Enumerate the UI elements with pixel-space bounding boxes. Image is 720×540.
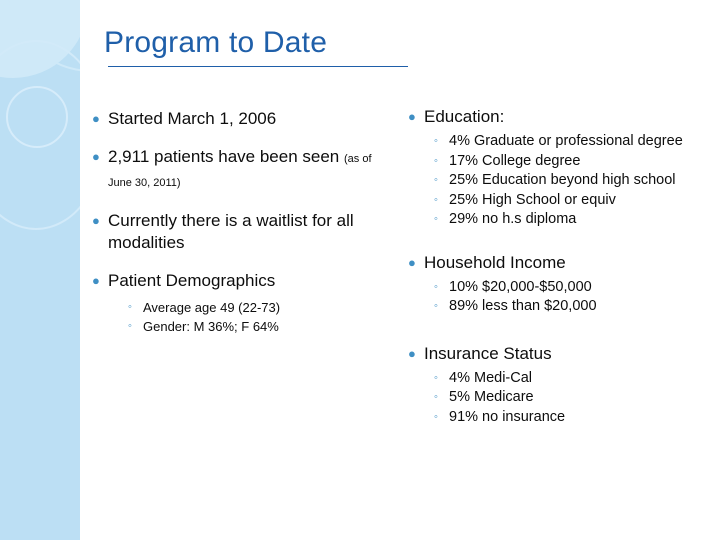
sub-list-item: ◦ 91% no insurance xyxy=(434,408,720,428)
left-content-column: ● Started March 1, 2006 ● 2,911 patients… xyxy=(92,108,392,336)
sub-bullet-icon: ◦ xyxy=(128,298,143,317)
sub-list-item: ◦ 4% Graduate or professional degree xyxy=(434,132,720,152)
sub-bullet-icon: ◦ xyxy=(434,278,449,297)
sub-bullet-icon: ◦ xyxy=(434,132,449,151)
right-content-column: ● Education: ◦ 4% Graduate or profession… xyxy=(408,106,720,441)
list-item: ● Education: xyxy=(408,106,720,128)
sub-list-item: ◦ 25% Education beyond high school xyxy=(434,171,720,191)
decorative-left-band xyxy=(0,0,80,540)
sub-list-item-label: 29% no h.s diploma xyxy=(449,210,720,230)
bullet-icon: ● xyxy=(408,343,424,365)
sub-bullet-icon: ◦ xyxy=(434,297,449,316)
list-item: ● Currently there is a waitlist for all … xyxy=(92,210,392,254)
list-item-label: Insurance Status xyxy=(424,343,720,365)
sub-bullet-icon: ◦ xyxy=(434,388,449,407)
sub-list-item-label: 4% Medi-Cal xyxy=(449,369,720,389)
sub-bullet-icon: ◦ xyxy=(434,152,449,171)
bullet-icon: ● xyxy=(92,108,108,130)
list-item-label: Currently there is a waitlist for all mo… xyxy=(108,210,392,254)
list-item: ● Household Income xyxy=(408,252,720,274)
sub-list-item-label: 25% High School or equiv xyxy=(449,191,720,211)
list-item: ● Insurance Status xyxy=(408,343,720,365)
list-item: ● 2,911 patients have been seen (as of J… xyxy=(92,146,392,194)
list-item-label: 2,911 patients have been seen (as of Jun… xyxy=(108,146,392,194)
sub-list-item: ◦ Gender: M 36%; F 64% xyxy=(128,317,392,336)
sub-list-item: ◦ 17% College degree xyxy=(434,152,720,172)
sub-bullet-icon: ◦ xyxy=(434,210,449,229)
bullet-icon: ● xyxy=(92,146,108,168)
sub-list-item: ◦ 25% High School or equiv xyxy=(434,191,720,211)
page-title: Program to Date xyxy=(104,26,327,60)
sub-bullet-icon: ◦ xyxy=(434,369,449,388)
insurance-status-group: ● Insurance Status ◦ 4% Medi-Cal ◦ 5% Me… xyxy=(408,343,720,428)
list-item-label: Patient Demographics xyxy=(108,270,392,292)
sub-bullet-icon: ◦ xyxy=(128,317,143,336)
list-item-label: Education: xyxy=(424,106,720,128)
bullet-icon: ● xyxy=(92,210,108,232)
sub-list-item: ◦ 4% Medi-Cal xyxy=(434,369,720,389)
list-item-text: 2,911 patients have been seen xyxy=(108,147,339,166)
sub-list-item-label: 4% Graduate or professional degree xyxy=(449,132,720,152)
sub-list-item-label: Average age 49 (22-73) xyxy=(143,298,392,317)
title-underline xyxy=(108,66,408,67)
sub-list-item: ◦ Average age 49 (22-73) xyxy=(128,298,392,317)
list-item-label: Household Income xyxy=(424,252,720,274)
bullet-icon: ● xyxy=(92,270,108,292)
household-income-group: ● Household Income ◦ 10% $20,000-$50,000… xyxy=(408,252,720,317)
sub-bullet-icon: ◦ xyxy=(434,171,449,190)
bullet-icon: ● xyxy=(408,106,424,128)
sub-list-item: ◦ 5% Medicare xyxy=(434,388,720,408)
list-item: ● Patient Demographics xyxy=(92,270,392,292)
sub-list-item-label: 17% College degree xyxy=(449,152,720,172)
sub-list-item: ◦ 29% no h.s diploma xyxy=(434,210,720,230)
sub-list-item: ◦ 89% less than $20,000 xyxy=(434,297,720,317)
education-group: ● Education: ◦ 4% Graduate or profession… xyxy=(408,106,720,230)
sub-list-item-label: 25% Education beyond high school xyxy=(449,171,720,191)
sub-list-item: ◦ 10% $20,000-$50,000 xyxy=(434,278,720,298)
sub-list-item-label: 5% Medicare xyxy=(449,388,720,408)
sub-bullet-icon: ◦ xyxy=(434,408,449,427)
sub-list-item-label: 89% less than $20,000 xyxy=(449,297,720,317)
list-item-label: Started March 1, 2006 xyxy=(108,108,392,130)
list-item: ● Started March 1, 2006 xyxy=(92,108,392,130)
decorative-circle-outline-small xyxy=(6,86,68,148)
sub-list-item-label: Gender: M 36%; F 64% xyxy=(143,317,392,336)
sub-list-item-label: 10% $20,000-$50,000 xyxy=(449,278,720,298)
sub-bullet-icon: ◦ xyxy=(434,191,449,210)
sub-list-item-label: 91% no insurance xyxy=(449,408,720,428)
slide: Program to Date ● Started March 1, 2006 … xyxy=(0,0,720,540)
bullet-icon: ● xyxy=(408,252,424,274)
